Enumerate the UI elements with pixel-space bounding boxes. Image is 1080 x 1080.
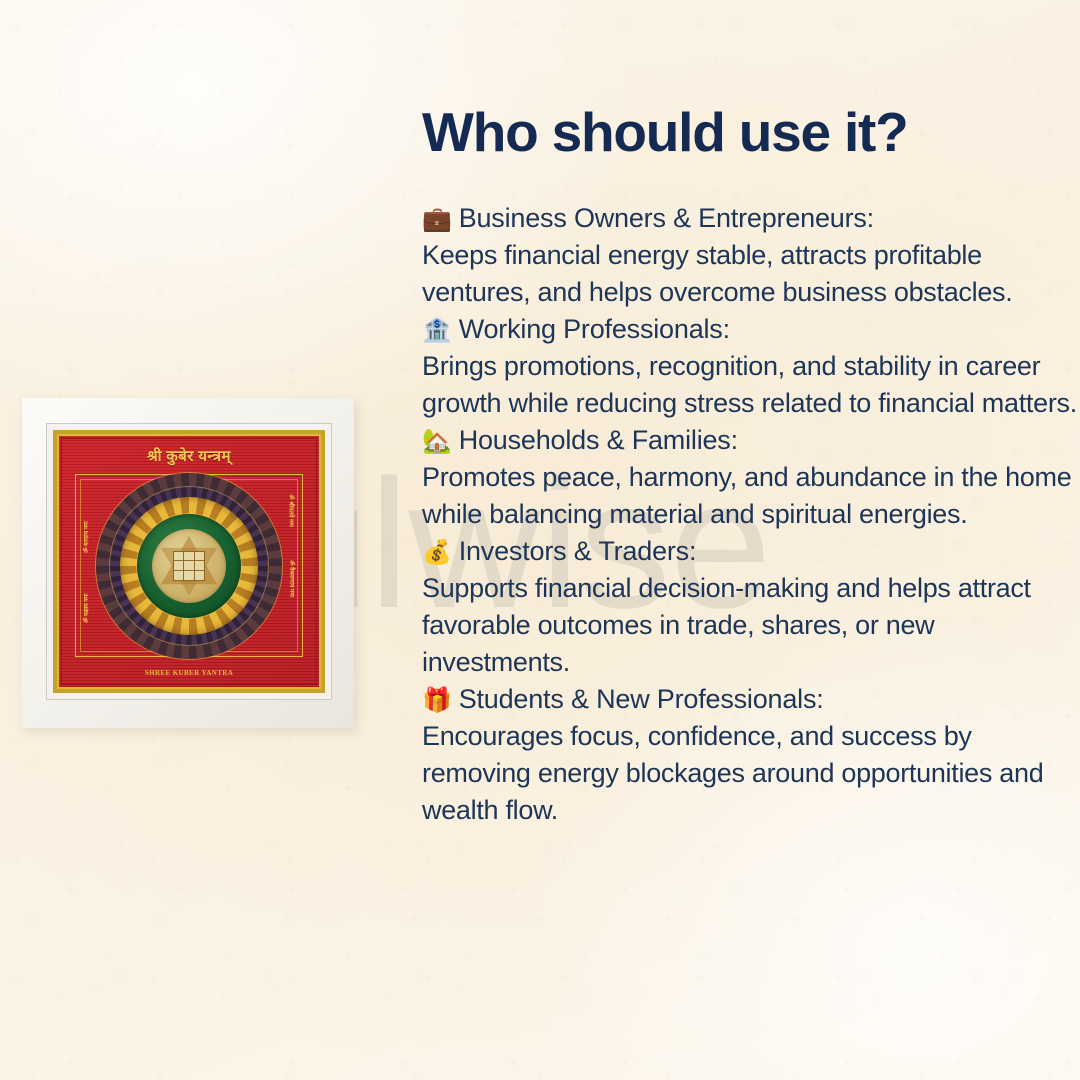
acrylic-frame: श्री कुबेर यन्त्रम् ॐ कुबेराय नमः ॐ धनदा… [46, 423, 332, 700]
audience-heading: 🏡Households & Families: [422, 422, 1080, 459]
page-title: Who should use it? [422, 104, 1080, 162]
audience-item-business-owners: 💼Business Owners & Entrepreneurs: Keeps … [422, 200, 1080, 311]
audience-description: Supports financial decision-making and h… [422, 570, 1080, 681]
yantra-mantra-right-1: ॐ श्रीपतये नमः [288, 494, 296, 527]
yantra-core [152, 529, 226, 603]
audience-heading-text: Business Owners & Entrepreneurs: [459, 203, 874, 233]
yantra-plate: श्री कुबेर यन्त्रम् ॐ कुबेराय नमः ॐ धनदा… [57, 434, 321, 689]
money-bag-icon: 💰 [422, 538, 452, 566]
yantra-mantra-left-2: ॐ यक्षाय नमः [82, 594, 90, 623]
audience-item-households-families: 🏡Households & Families: Promotes peace, … [422, 422, 1080, 533]
yantra-inner-border: ॐ कुबेराय नमः ॐ धनदाय नमः ॐ यक्षाय नमः ॐ… [75, 474, 303, 657]
content-column: Who should use it? 💼Business Owners & En… [422, 104, 1080, 828]
audience-item-working-professionals: 🏦Working Professionals: Brings promotion… [422, 311, 1080, 422]
audience-heading-text: Investors & Traders: [459, 536, 697, 566]
yantra-gold-border: श्री कुबेर यन्त्रम् ॐ कुबेराय नमः ॐ धनदा… [53, 430, 325, 693]
audience-heading-text: Students & New Professionals: [459, 684, 824, 714]
audience-heading: 🏦Working Professionals: [422, 311, 1080, 348]
bank-icon: 🏦 [422, 316, 452, 344]
audience-heading: 💰Investors & Traders: [422, 533, 1080, 570]
audience-description: Promotes peace, harmony, and abundance i… [422, 459, 1080, 533]
yantra-mandala [96, 473, 282, 659]
product-image-kuber-yantra: श्री कुबेर यन्त्रम् ॐ कुबेराय नमः ॐ धनदा… [22, 398, 354, 728]
yantra-footer-label: SHREE KUBER YANTRA [59, 669, 319, 677]
gift-icon: 🎁 [422, 686, 452, 714]
yantra-lotus-ring [120, 497, 258, 635]
audience-description: Encourages focus, confidence, and succes… [422, 718, 1080, 829]
yantra-mantra-left-1: ॐ धनदाय नमः [82, 521, 90, 553]
briefcase-icon: 💼 [422, 205, 452, 233]
audience-description: Keeps financial energy stable, attracts … [422, 237, 1080, 311]
audience-heading-text: Working Professionals: [459, 314, 730, 344]
audience-description: Brings promotions, recognition, and stab… [422, 348, 1080, 422]
yantra-mantra-right-2: ॐ वैश्रवणाय नमः [288, 560, 296, 597]
audience-item-students-new-professionals: 🎁Students & New Professionals: Encourage… [422, 681, 1080, 829]
house-with-garden-icon: 🏡 [422, 427, 452, 455]
audience-heading-text: Households & Families: [459, 425, 738, 455]
yantra-title-devanagari: श्री कुबेर यन्त्रम् [59, 446, 319, 466]
audience-heading: 💼Business Owners & Entrepreneurs: [422, 200, 1080, 237]
yantra-green-ring [137, 514, 241, 618]
yantra-number-grid [173, 551, 205, 581]
audience-heading: 🎁Students & New Professionals: [422, 681, 1080, 718]
audience-item-investors-traders: 💰Investors & Traders: Supports financial… [422, 533, 1080, 681]
